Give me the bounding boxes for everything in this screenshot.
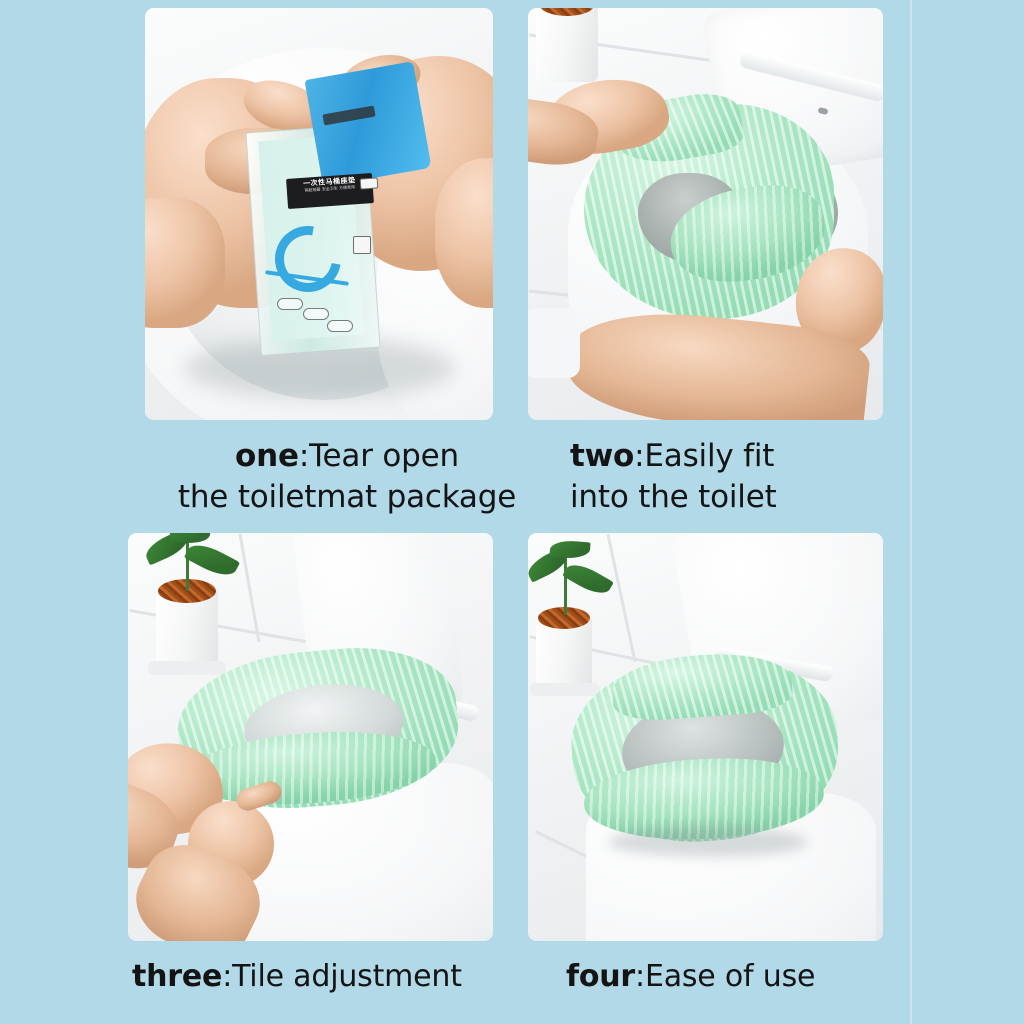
step-three-photo <box>128 533 493 941</box>
package-label-chip <box>360 177 379 189</box>
caption-step-two: two:Easily fit into the toilet <box>570 436 900 518</box>
caption-step-three: three:Tile adjustment <box>132 956 552 997</box>
caption-four-number: four <box>566 959 635 994</box>
caption-three-separator: : <box>222 959 232 994</box>
caption-four-separator: : <box>635 959 645 994</box>
instruction-collage: 一次性马桶座垫 隔脏隔菌 安全卫生 方便易用 <box>0 0 1024 1024</box>
step-two-photo <box>528 8 883 420</box>
caption-one-separator: : <box>299 438 309 474</box>
plant-pot <box>536 8 598 82</box>
caption-one-number: one <box>235 438 299 474</box>
sleeve-cuff <box>528 308 580 378</box>
step-four-photo <box>528 533 883 941</box>
package-feature-dot-2 <box>303 308 329 320</box>
caption-step-four: four:Ease of use <box>566 956 906 997</box>
caption-two-separator: : <box>634 438 644 474</box>
background-seam-line <box>910 0 912 1024</box>
package-icon-box <box>353 236 371 254</box>
caption-three-text: Tile adjustment <box>232 959 462 994</box>
step-one-photo: 一次性马桶座垫 隔脏隔菌 安全卫生 方便易用 <box>145 8 493 420</box>
caption-one-text: Tear open the toiletmat package <box>178 438 516 515</box>
left-wrist <box>145 198 225 328</box>
package-feature-dot-1 <box>277 298 303 310</box>
caption-step-one: one:Tear open the toiletmat package <box>152 436 542 518</box>
caption-two-number: two <box>570 438 634 474</box>
caption-four-text: Ease of use <box>645 959 815 994</box>
caption-three-number: three <box>132 959 222 994</box>
plant-pot-saucer <box>148 661 226 675</box>
package-feature-dot-3 <box>327 320 353 332</box>
plant-pot-saucer <box>530 683 600 696</box>
cover-shadow <box>608 827 808 857</box>
